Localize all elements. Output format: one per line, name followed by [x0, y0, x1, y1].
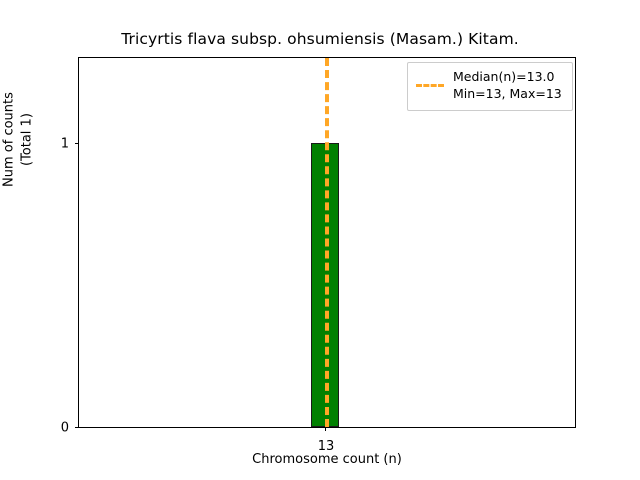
x-axis-label: Chromosome count (n)	[78, 452, 576, 467]
plot-area: 0 1 13	[78, 57, 576, 428]
legend-text-block: Median(n)=13.0 Min=13, Max=13	[453, 69, 562, 103]
legend-median-label: Median(n)=13.0	[453, 69, 562, 86]
dashed-line-icon	[416, 84, 444, 87]
chart-title: Tricyrtis flava subsp. ohsumiensis (Masa…	[0, 30, 640, 48]
y-axis-label-line-2: (Total 1)	[18, 0, 36, 280]
legend-range-label: Min=13, Max=13	[453, 86, 562, 103]
y-axis-label-line-1: Num of counts	[0, 0, 18, 280]
y-tick-0: 0	[75, 427, 79, 428]
y-axis-label: Num of counts (Total 1)	[0, 0, 35, 280]
chromosome-count-histogram-figure: Tricyrtis flava subsp. ohsumiensis (Masa…	[0, 0, 640, 480]
y-tick-1: 1	[75, 143, 79, 144]
legend-entry-median: Median(n)=13.0 Min=13, Max=13	[416, 69, 564, 103]
x-tick-13: 13	[325, 427, 326, 431]
y-tick-label-1: 1	[61, 136, 69, 151]
median-line	[325, 58, 329, 427]
chart-legend: Median(n)=13.0 Min=13, Max=13	[407, 62, 573, 111]
y-tick-label-0: 0	[61, 421, 69, 436]
